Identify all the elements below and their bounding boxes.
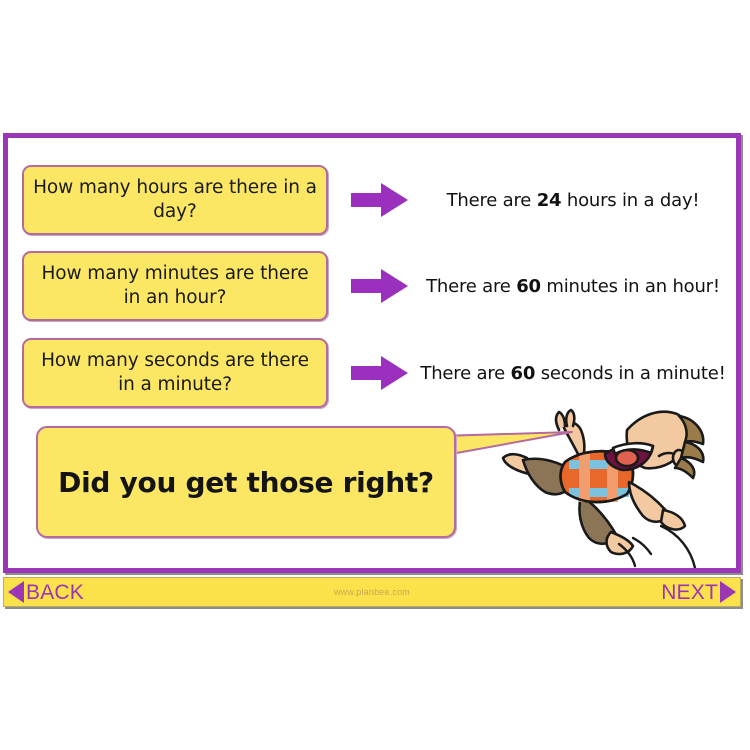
triangle-left-icon <box>8 581 24 603</box>
answer-prefix: There are <box>420 363 510 384</box>
back-button-label: BACK <box>26 582 84 603</box>
answer-suffix: seconds in a minute! <box>535 363 725 384</box>
right-arrow-icon <box>351 182 409 218</box>
next-button[interactable]: NEXT <box>661 581 736 603</box>
right-arrow-icon <box>351 355 409 391</box>
answer-suffix: hours in a day! <box>561 190 699 211</box>
triangle-right-icon <box>720 581 736 603</box>
slide-content: How many hours are there in a day? There… <box>8 138 736 568</box>
slide-frame: How many hours are there in a day? There… <box>3 133 741 573</box>
back-button[interactable]: BACK <box>8 581 84 603</box>
speech-bubble[interactable]: Did you get those right? <box>36 426 456 538</box>
navigation-bar: BACK www.planbee.com NEXT <box>3 577 741 607</box>
jumping-boy-illustration <box>493 400 708 568</box>
answer-value: 24 <box>537 190 562 211</box>
right-arrow-icon <box>351 268 409 304</box>
answer-value: 60 <box>511 363 536 384</box>
answer-prefix: There are <box>426 276 516 297</box>
answer-prefix: There are <box>447 190 537 211</box>
answer-suffix: minutes in an hour! <box>541 276 720 297</box>
next-button-label: NEXT <box>661 582 718 603</box>
watermark: www.planbee.com <box>4 587 740 597</box>
answer-value: 60 <box>516 276 541 297</box>
question-box-2[interactable]: How many minutes are there in an hour? <box>22 251 328 321</box>
speech-bubble-tail-icon <box>440 430 580 472</box>
answer-text-1: There are 24 hours in a day! <box>412 165 734 237</box>
qa-row: How many minutes are there in an hour? T… <box>8 251 736 325</box>
slide-root: How many hours are there in a day? There… <box>0 133 750 611</box>
question-box-3[interactable]: How many seconds are there in a minute? <box>22 338 328 408</box>
question-box-1[interactable]: How many hours are there in a day? <box>22 165 328 235</box>
qa-row: How many hours are there in a day? There… <box>8 165 736 239</box>
answer-text-2: There are 60 minutes in an hour! <box>412 251 734 323</box>
